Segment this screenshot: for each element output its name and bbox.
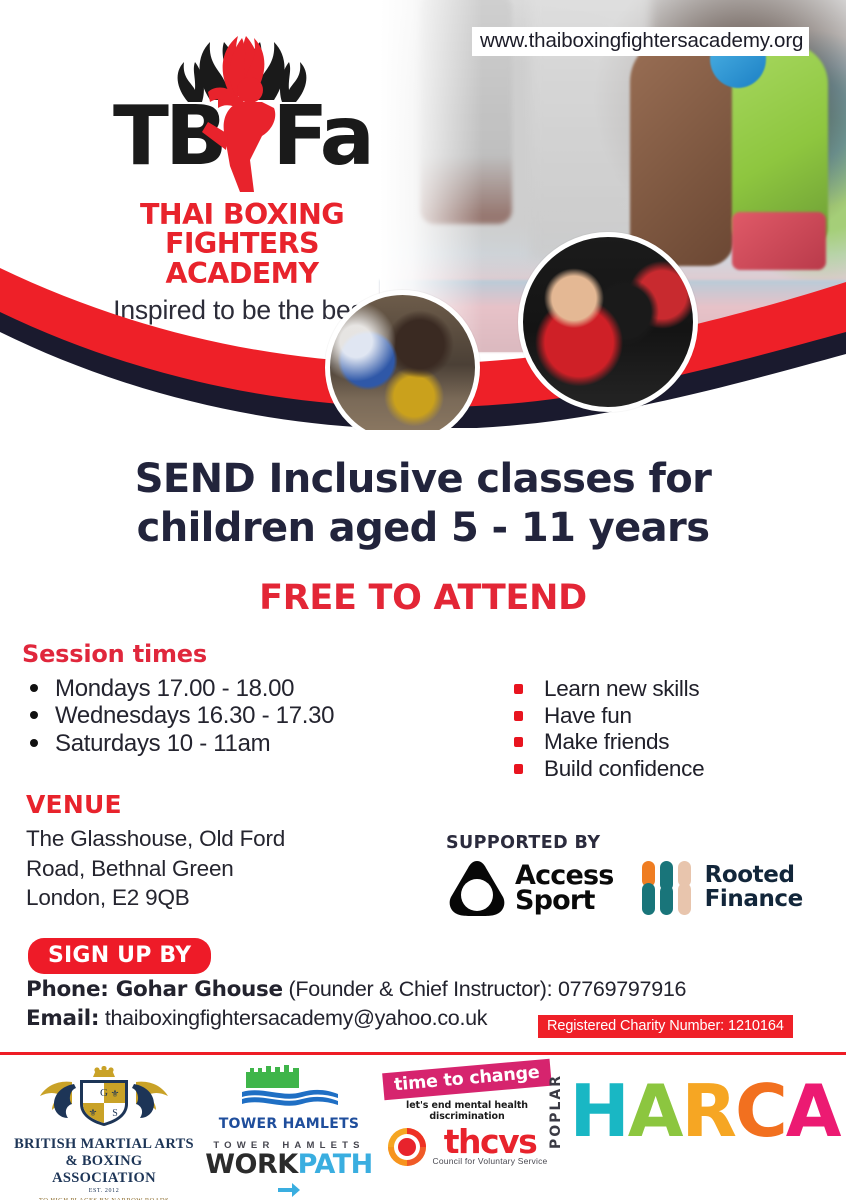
bullet-square-icon — [514, 764, 523, 774]
venue-heading: VENUE — [26, 790, 426, 819]
workpath-word1: WORK — [205, 1149, 297, 1180]
thcvs-strapline: Council for Voluntary Service — [433, 1156, 548, 1166]
access-sport-line2: Sport — [515, 888, 614, 913]
access-sport-triangle-icon — [446, 859, 508, 917]
harca-letter-r: R — [681, 1069, 734, 1153]
bmaba-name-line1: BRITISH MARTIAL ARTS — [14, 1136, 194, 1153]
bmaba-logo: G ⚜ ⚜ S BRITISH MARTIAL ARTS & BOXING AS… — [14, 1066, 194, 1200]
session-time-text: Wednesdays 16.30 - 17.30 — [55, 702, 334, 729]
headline-line2: children aged 5 - 11 years — [0, 504, 846, 553]
list-item: Saturdays 10 - 11am — [22, 730, 452, 757]
venue-block: VENUE The Glasshouse, Old Ford Road, Bet… — [26, 790, 426, 913]
footer-divider — [0, 1052, 846, 1055]
svg-text:S: S — [112, 1108, 118, 1119]
bullet-dot-icon — [30, 684, 38, 692]
time-to-change-strapline: let's end mental health discrimination — [382, 1100, 552, 1122]
bmaba-established: EST. 2012 — [14, 1188, 194, 1194]
benefits-block: Learn new skills Have fun Make friends B… — [508, 676, 828, 783]
hero-child-shorts — [732, 212, 826, 270]
thcvs-wordmark: thcvs — [433, 1128, 548, 1156]
thcvs-flower-icon — [387, 1127, 427, 1167]
tower-hamlets-workpath-logo: TOWER HAMLETS TOWER HAMLETS WORKPATH CON… — [196, 1064, 382, 1200]
time-to-change-badge: time to change — [382, 1059, 551, 1101]
rooted-finance-text: Rooted Finance — [705, 864, 803, 912]
free-to-attend-banner: FREE TO ATTEND — [0, 578, 846, 618]
harca-letter-a2: A — [786, 1069, 840, 1153]
contact-phone-role: (Founder & Chief Instructor): — [283, 977, 558, 1001]
list-item: Mondays 17.00 - 18.00 — [22, 675, 452, 702]
venue-address: The Glasshouse, Old Ford Road, Bethnal G… — [26, 824, 426, 913]
bullet-dot-icon — [30, 711, 38, 719]
arrow-right-icon — [278, 1182, 300, 1198]
svg-text:⚜: ⚜ — [89, 1108, 98, 1119]
contact-email-value[interactable]: thaiboxingfightersacademy@yahoo.co.uk — [99, 1006, 487, 1030]
rooted-finance-bars-icon — [640, 859, 696, 917]
footer-partner-logos: G ⚜ ⚜ S BRITISH MARTIAL ARTS & BOXING AS… — [0, 1060, 846, 1200]
rooted-finance-line2: Finance — [705, 888, 803, 912]
list-item: Make friends — [508, 729, 828, 756]
bullet-square-icon — [514, 684, 523, 694]
supported-by-label: SUPPORTED BY — [446, 833, 846, 853]
session-times-block: Session times Mondays 17.00 - 18.00 Wedn… — [22, 640, 452, 757]
session-times-heading: Session times — [22, 640, 452, 668]
registered-charity-badge: Registered Charity Number: 1210164 — [538, 1015, 793, 1038]
bmaba-name-line2: & BOXING ASSOCIATION — [14, 1153, 194, 1187]
bullet-dot-icon — [30, 739, 38, 747]
contact-email-label: Email: — [26, 1006, 99, 1031]
session-time-text: Saturdays 10 - 11am — [55, 730, 270, 757]
list-item: Learn new skills — [508, 676, 828, 703]
poplar-harca-logo: POPLAR HARCA — [556, 1074, 832, 1149]
supported-by-block: SUPPORTED BY Access Sport — [446, 833, 846, 917]
benefit-text: Learn new skills — [544, 676, 699, 701]
rooted-finance-logo: Rooted Finance — [640, 859, 803, 917]
time-to-change-thcvs-logos: time to change let's end mental health d… — [382, 1066, 552, 1167]
bullet-square-icon — [514, 711, 523, 721]
contact-phone-name: Phone: Gohar Ghouse — [26, 977, 283, 1002]
list-item: Wednesdays 16.30 - 17.30 — [22, 702, 452, 729]
venue-address-line3: London, E2 9QB — [26, 883, 426, 913]
logo-mark: TBxFa — [92, 22, 392, 212]
contact-phone-line[interactable]: Phone: Gohar Ghouse (Founder & Chief Ins… — [26, 975, 726, 1004]
fighter-silhouette-icon — [200, 74, 286, 194]
hero-section: www.thaiboxingfightersacademy.org TBxFa — [0, 0, 846, 430]
benefit-text: Have fun — [544, 703, 632, 728]
tower-hamlets-name: TOWER HAMLETS — [196, 1116, 382, 1132]
session-times-list: Mondays 17.00 - 18.00 Wednesdays 16.30 -… — [22, 675, 452, 757]
harca-letter-c: C — [735, 1069, 786, 1153]
website-url[interactable]: www.thaiboxingfightersacademy.org — [472, 27, 809, 56]
svg-text:⚜: ⚜ — [111, 1089, 120, 1100]
bmaba-crest-icon: G ⚜ ⚜ S — [14, 1066, 194, 1128]
poster: www.thaiboxingfightersacademy.org TBxFa — [0, 0, 846, 1200]
venue-address-line2: Road, Bethnal Green — [26, 854, 426, 884]
thcvs-logo: thcvs Council for Voluntary Service — [382, 1127, 552, 1167]
poplar-text: POPLAR — [548, 1074, 564, 1149]
access-sport-text: Access Sport — [515, 863, 614, 913]
headline-line1: SEND Inclusive classes for — [0, 455, 846, 504]
supporter-logos: Access Sport Rooted Finance — [446, 859, 846, 917]
hero-instructor — [630, 36, 734, 266]
svg-text:G: G — [100, 1087, 108, 1099]
list-item: Have fun — [508, 703, 828, 730]
access-sport-logo: Access Sport — [446, 859, 614, 917]
benefit-text: Build confidence — [544, 756, 704, 781]
workpath-wordmark: WORKPATH — [196, 1151, 382, 1200]
bmaba-name: BRITISH MARTIAL ARTS & BOXING ASSOCIATIO… — [14, 1136, 194, 1186]
rooted-finance-line1: Rooted — [705, 864, 803, 888]
harca-row: POPLAR HARCA — [556, 1074, 832, 1149]
benefit-text: Make friends — [544, 729, 669, 754]
session-time-text: Mondays 17.00 - 18.00 — [55, 675, 294, 702]
tower-hamlets-castle-icon — [196, 1064, 382, 1110]
photo-circle-kick-pads — [518, 232, 698, 412]
workpath-word2: PATH — [298, 1149, 373, 1180]
harca-wordmark: HARCA — [569, 1080, 839, 1143]
harca-letter-h: H — [569, 1069, 627, 1153]
harca-letter-a1: A — [628, 1069, 682, 1153]
hero-child-green-top — [732, 44, 828, 244]
contact-phone-number[interactable]: 07769797916 — [558, 977, 686, 1001]
list-item: Build confidence — [508, 756, 828, 783]
benefits-list: Learn new skills Have fun Make friends B… — [508, 676, 828, 783]
page-title: SEND Inclusive classes for children aged… — [0, 455, 846, 553]
bullet-square-icon — [514, 737, 523, 747]
sign-up-by-badge[interactable]: SIGN UP BY — [28, 938, 211, 974]
venue-address-line1: The Glasshouse, Old Ford — [26, 824, 426, 854]
